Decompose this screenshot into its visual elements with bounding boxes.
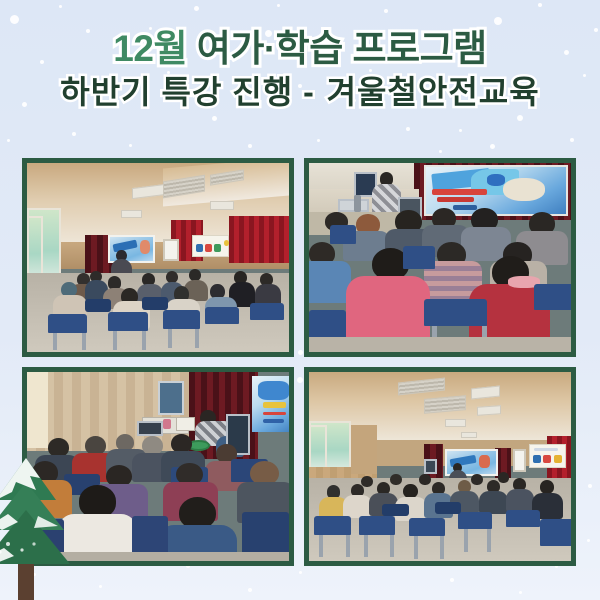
title-line-1-rest: 여가·학습 프로그램 xyxy=(197,28,487,69)
snow-dot xyxy=(7,139,10,142)
snow-dot xyxy=(129,144,132,147)
snow-dot xyxy=(99,585,102,588)
poster-canvas: 12월 여가·학습 프로그램 하반기 특강 진행 - 겨울철안전교육 xyxy=(0,0,600,600)
photo-bottom-right-image xyxy=(309,372,571,561)
title-line-1: 12월 여가·학습 프로그램 xyxy=(0,30,600,67)
snow-dot xyxy=(248,588,252,592)
title-line-2-dash: - xyxy=(303,74,317,110)
snow-dot xyxy=(212,116,217,121)
title-line-2-prefix: 하반기 특강 진행 xyxy=(60,74,293,110)
snow-dot xyxy=(588,484,592,488)
title-line-2-suffix: 겨울철안전교육 xyxy=(327,74,540,110)
snow-dot xyxy=(248,144,252,148)
photo-bottom-right[interactable] xyxy=(304,367,576,566)
snow-dot xyxy=(277,4,280,7)
snow-dot xyxy=(459,129,462,132)
snow-dot xyxy=(587,539,590,542)
snow-dot xyxy=(384,9,388,13)
snow-dot xyxy=(439,150,442,153)
photo-grid xyxy=(22,158,576,566)
snow-dot xyxy=(406,127,410,131)
snow-dot xyxy=(317,139,320,142)
snow-dot xyxy=(194,6,199,11)
snow-dot xyxy=(538,3,542,7)
photo-top-right-image xyxy=(309,163,571,352)
snow-dot xyxy=(519,591,522,594)
snow-dot xyxy=(299,571,302,574)
poster-title: 12월 여가·학습 프로그램 하반기 특강 진행 - 겨울철안전교육 xyxy=(0,30,600,108)
photo-top-left[interactable] xyxy=(22,158,294,357)
snow-dot xyxy=(450,578,454,582)
snow-dot xyxy=(570,138,574,142)
photo-top-right[interactable] xyxy=(304,158,576,357)
snow-dot xyxy=(59,5,62,8)
snow-dot xyxy=(72,132,76,136)
snow-dot xyxy=(517,115,523,121)
snow-dot xyxy=(490,144,495,149)
title-line-2: 하반기 특강 진행 - 겨울철안전교육 xyxy=(0,76,600,108)
photo-top-left-image xyxy=(27,163,289,352)
pine-tree-icon xyxy=(0,452,74,600)
snow-dot xyxy=(494,17,502,25)
snow-dot xyxy=(10,15,19,24)
title-month: 12월 xyxy=(113,28,187,69)
